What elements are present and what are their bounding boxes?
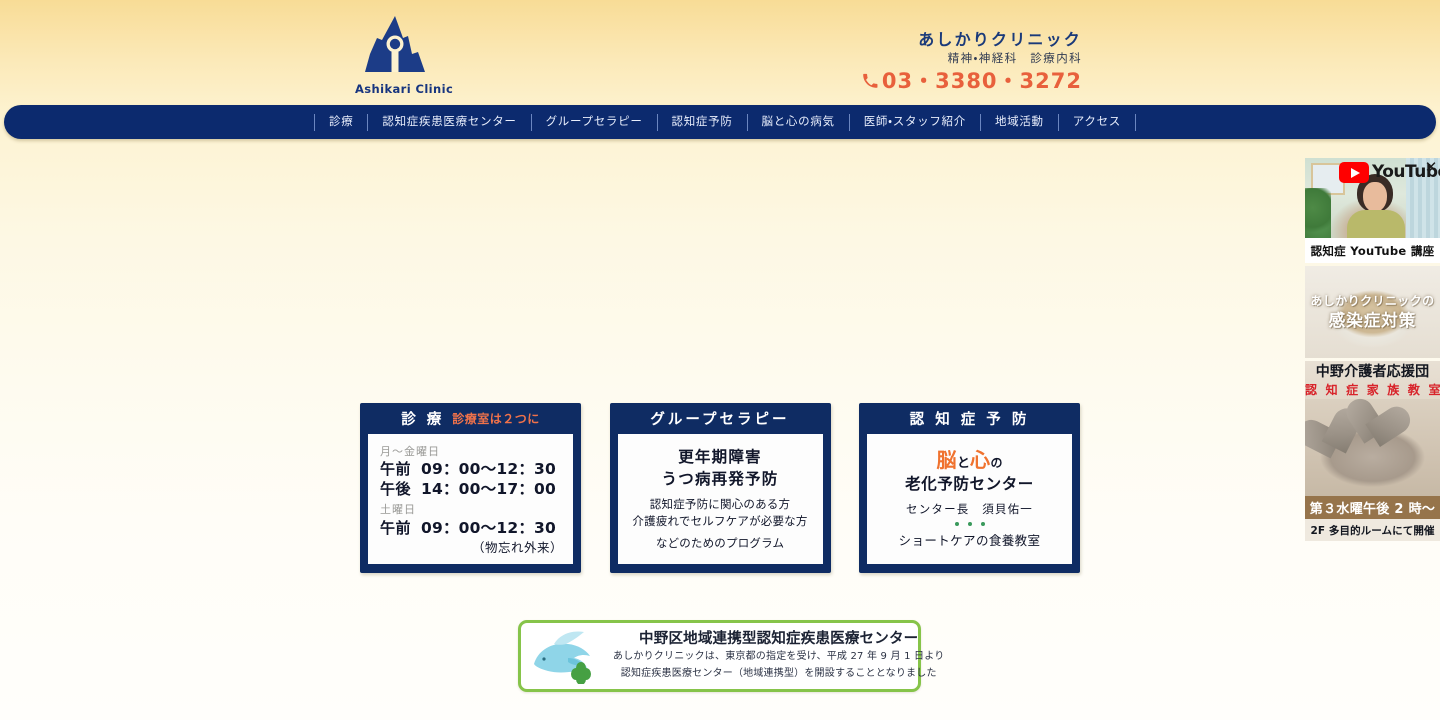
dementia-center-banner[interactable]: 中野区地域連携型認知症疾患医療センター あしかりクリニックは、東京都の指定を受け…: [518, 620, 921, 692]
stone-heart-icon: [1353, 400, 1411, 455]
card-subtitle: 診療室は２つに: [452, 410, 540, 427]
caregiver-schedule-text: 第３水曜午後 2 時～: [1310, 498, 1435, 517]
phone-icon: [862, 73, 878, 89]
caregiver-schedule-band: 第３水曜午後 2 時～: [1305, 496, 1440, 519]
clinic-name: あしかりクリニック: [862, 30, 1082, 49]
infection-line-1: あしかりクリニックの: [1310, 294, 1434, 308]
caregiver-venue: 2F 多目的ルームにて開催: [1305, 519, 1440, 541]
youtube-caption: 認知症 YouTube 講座: [1305, 238, 1440, 263]
hours-row: 午後 14：00～17：00: [380, 480, 573, 500]
card-body: 更年期障害 うつ病再発予防 認知症予防に関心のある方 介護疲れでセルフケアが必要…: [618, 434, 823, 564]
banner-title: 中野区地域連携型認知症疾患医療センター: [613, 630, 944, 649]
therapy-topic: 更年期障害: [678, 446, 762, 468]
headline-and: と: [957, 456, 970, 471]
nav-item-shinryo[interactable]: 診療: [314, 114, 367, 131]
hours-row: 午前 09：00～12：30: [380, 460, 573, 480]
widget-youtube-lecture[interactable]: YouTube 認知症 YouTube 講座 ✕: [1305, 158, 1440, 263]
banner-line-1: あしかりクリニックは、東京都の指定を受け、平成 27 年 9 月 1 日より: [613, 648, 944, 665]
caregiver-subtitle: 認 知 症 家 族 教 室: [1305, 382, 1440, 399]
nav-item-dementia-center[interactable]: 認知症疾患医療センター: [367, 114, 530, 131]
caregiver-venue-text: 2F 多目的ルームにて開催: [1310, 523, 1434, 538]
nav-item-brain-mind-illness[interactable]: 脳と心の病気: [747, 114, 849, 131]
clinic-mountain-logo-icon: [355, 14, 435, 80]
hours-row: 午前 09：00～12：30: [380, 519, 573, 539]
nav-item-doctors-staff[interactable]: 医師・スタッフ紹介: [849, 114, 980, 131]
saturday-label: 土曜日: [380, 502, 573, 519]
therapy-audience: 認知症予防に関心のある方: [650, 496, 790, 513]
main-navigation: 診療 認知症疾患医療センター グループセラピー 認知症予防 脳と心の病気 医師・…: [4, 105, 1436, 139]
hours-period: 午前: [380, 519, 411, 538]
therapy-topic: うつ病再発予防: [662, 468, 779, 490]
clinic-phone-number[interactable]: 03・3380・3272: [882, 71, 1082, 92]
nav-item-access[interactable]: アクセス: [1058, 114, 1136, 131]
card-body: 脳と心の 老化予防センター センター長 須貝佑一 ショートケアの食養教室: [867, 434, 1072, 564]
dove-clover-icon: [521, 628, 613, 684]
therapy-audience: 介護疲れでセルフケアが必要な方: [632, 513, 807, 530]
hours-time: 14：00～17：00: [421, 480, 556, 500]
infection-line-2: 感染症対策: [1329, 312, 1417, 330]
close-icon[interactable]: ✕: [1423, 159, 1439, 175]
card-header: 認 知 症 予 防: [859, 403, 1080, 434]
hours-note: （物忘れ外来）: [380, 537, 573, 556]
stone-hearts-photo: [1305, 399, 1440, 496]
clinic-departments: 精神・神経科 診療内科: [862, 52, 1082, 66]
prevention-program: ショートケアの食養教室: [899, 530, 1041, 549]
card-dementia-prevention[interactable]: 認 知 症 予 防 脳と心の 老化予防センター センター長 須貝佑一 ショートケ…: [859, 403, 1080, 573]
therapy-closing: などのためのプログラム: [656, 535, 784, 552]
clinic-logo[interactable]: Ashikari Clinic: [355, 14, 435, 96]
side-widgets: YouTube 認知症 YouTube 講座 ✕ あしかりクリニックの 感染症対…: [1305, 158, 1440, 544]
card-title: 認 知 症 予 防: [910, 408, 1030, 429]
card-group-therapy[interactable]: グループセラピー 更年期障害 うつ病再発予防 認知症予防に関心のある方 介護疲れ…: [610, 403, 831, 573]
card-header: 診 療 診療室は２つに: [360, 403, 581, 434]
info-cards-row: 診 療 診療室は２つに 月～金曜日 午前 09：00～12：30 午後 14：0…: [360, 403, 1080, 573]
site-header: Ashikari Clinic あしかりクリニック 精神・神経科 診療内科 03…: [0, 0, 1440, 105]
card-header: グループセラピー: [610, 403, 831, 434]
hours-time: 09：00～12：30: [421, 460, 556, 480]
decorative-dots: [955, 522, 985, 526]
card-title: 診 療: [401, 408, 444, 429]
headline-heart: 心: [970, 448, 991, 472]
widget-infection-measures[interactable]: あしかりクリニックの 感染症対策: [1305, 266, 1440, 358]
prevention-headline: 脳と心の: [936, 449, 1002, 471]
plant-decor: [1305, 188, 1331, 238]
hours-table: 月～金曜日 午前 09：00～12：30 午後 14：00～17：00 土曜日 …: [368, 440, 573, 559]
caregiver-title: 中野介護者応援団: [1305, 361, 1440, 382]
nav-item-community[interactable]: 地域活動: [980, 114, 1058, 131]
logo-wordmark: Ashikari Clinic: [355, 82, 435, 96]
nav-list: 診療 認知症疾患医療センター グループセラピー 認知症予防 脳と心の病気 医師・…: [314, 105, 1136, 139]
hours-period: 午後: [380, 480, 411, 499]
hours-period: 午前: [380, 460, 411, 479]
card-consultation-hours[interactable]: 診 療 診療室は２つに 月～金曜日 午前 09：00～12：30 午後 14：0…: [360, 403, 581, 573]
prevention-chief: センター長 須貝佑一: [906, 501, 1033, 517]
headline-brain: 脳: [936, 448, 957, 472]
headline-no: の: [991, 456, 1003, 470]
weekday-label: 月～金曜日: [380, 444, 573, 461]
widget-caregiver-support[interactable]: 中野介護者応援団 認 知 症 家 族 教 室 第３水曜午後 2 時～ 2F 多目…: [1305, 361, 1440, 541]
youtube-play-icon: [1339, 162, 1369, 183]
presenter-face: [1363, 182, 1387, 212]
banner-line-2: 認知症疾患医療センター（地域連携型）を開設することとなりました: [613, 665, 944, 682]
clinic-phone-row[interactable]: 03・3380・3272: [862, 71, 1082, 92]
prevention-center-name: 老化予防センター: [905, 474, 1034, 495]
nav-item-group-therapy[interactable]: グループセラピー: [531, 114, 657, 131]
hours-time: 09：00～12：30: [421, 519, 556, 539]
banner-text: 中野区地域連携型認知症疾患医療センター あしかりクリニックは、東京都の指定を受け…: [613, 630, 952, 683]
presenter-body: [1347, 210, 1405, 238]
nav-item-dementia-prevention[interactable]: 認知症予防: [657, 114, 747, 131]
card-title: グループセラピー: [650, 408, 789, 429]
header-contact: あしかりクリニック 精神・神経科 診療内科 03・3380・3272: [862, 30, 1082, 92]
card-body: 月～金曜日 午前 09：00～12：30 午後 14：00～17：00 土曜日 …: [368, 434, 573, 564]
youtube-thumbnail: YouTube: [1305, 158, 1440, 238]
